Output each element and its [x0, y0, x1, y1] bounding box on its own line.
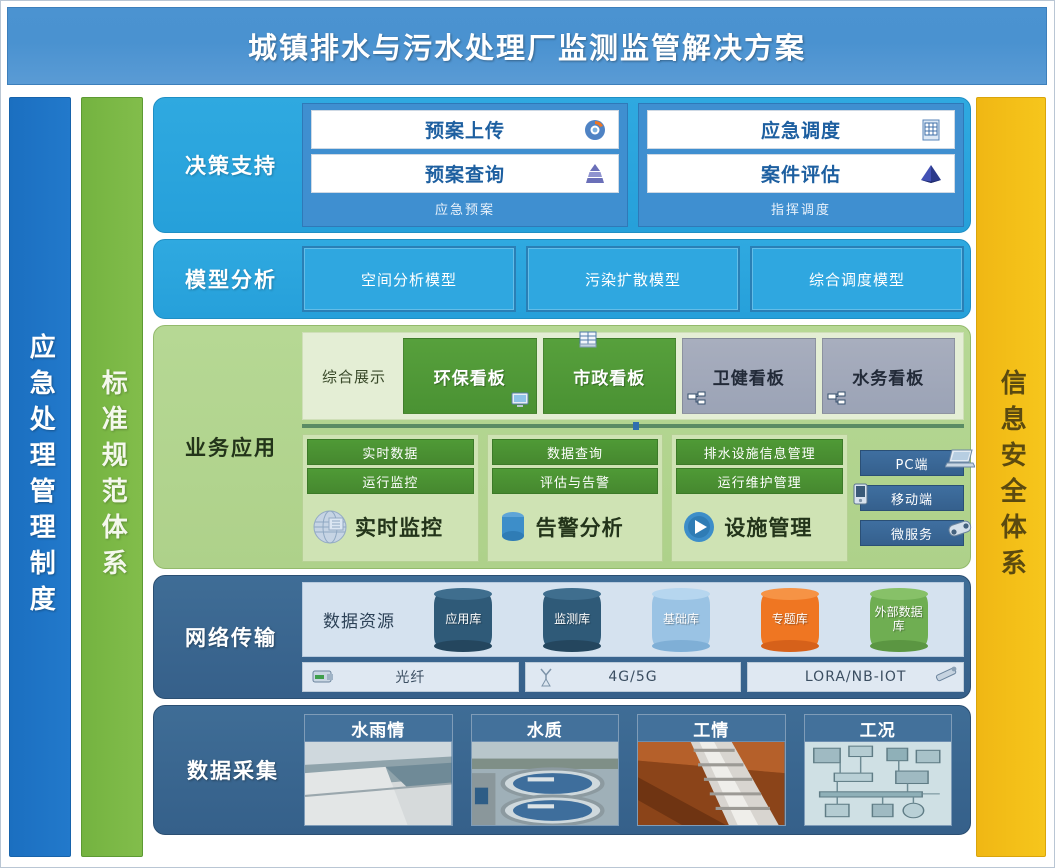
kanban-municipal[interactable]: 市政看板	[543, 338, 677, 414]
divider-marker	[633, 422, 639, 430]
database-application-label: 应用库	[445, 613, 481, 626]
collection-card-working-condition-title: 工况	[805, 715, 952, 742]
grid-table-icon	[918, 117, 944, 143]
pillar-information-security: 信息安全体系	[976, 97, 1046, 857]
chart-node-icon	[827, 391, 847, 409]
layer-network-transmission: 网络传输 数据资源 应用库 监测库	[153, 575, 971, 699]
pillar-emergency-management-label: 应急处理管理制度	[26, 333, 55, 621]
database-thematic[interactable]: 专题库	[761, 593, 819, 647]
pillar-standards-system-label: 标准规范体系	[98, 369, 127, 585]
database-thematic-label: 专题库	[772, 613, 808, 626]
model-item-pollution-diffusion[interactable]: 污染扩散模型	[526, 246, 740, 312]
decision-group-emergency-plan-caption: 应急预案	[311, 199, 619, 218]
solution-architecture-diagram: 城镇排水与污水处理厂监测监管解决方案 应急处理管理制度 标准规范体系 信息安全体…	[0, 0, 1055, 868]
globe-icon	[311, 508, 349, 546]
collection-card-water-rain-title: 水雨情	[305, 715, 452, 742]
network-link-fiber-label: 光纤	[395, 667, 425, 687]
business-column-query: 数据查询 评估与告警 告警分析	[487, 434, 664, 562]
scada-diagram-photo	[805, 742, 952, 825]
kanban-environment[interactable]: 环保看板	[403, 338, 537, 414]
business-footer-alarm-analysis[interactable]: 告警分析	[492, 497, 659, 557]
data-resource-panel: 数据资源 应用库 监测库 基础库	[302, 582, 964, 657]
business-column-facility: 排水设施信息管理 运行维护管理 设施管理	[671, 434, 848, 562]
button-case-evaluation[interactable]: 案件评估	[647, 154, 955, 193]
river-channel-photo	[305, 742, 452, 825]
pillar-information-security-label: 信息安全体系	[997, 369, 1026, 585]
button-plan-query[interactable]: 预案查询	[311, 154, 619, 193]
network-link-lora-label: LORA/NB-IOT	[805, 669, 907, 685]
business-item-assessment-alarm[interactable]: 评估与告警	[492, 468, 659, 494]
decision-group-command-dispatch-caption: 指挥调度	[647, 199, 955, 218]
kanban-water-affairs[interactable]: 水务看板	[822, 338, 956, 414]
cycle-icon	[582, 117, 608, 143]
terminal-pc-label: PC端	[896, 454, 929, 473]
network-links: 光纤 4G/5G LORA/NB-IOT	[302, 662, 964, 692]
layer-decision-support: 决策支持 预案上传	[153, 97, 971, 233]
collection-card-working-condition[interactable]: 工况	[804, 714, 953, 826]
collection-card-project-status[interactable]: 工情	[637, 714, 786, 826]
window-grid-icon	[578, 331, 598, 349]
pyramid-3d-icon	[918, 161, 944, 187]
database-application[interactable]: 应用库	[434, 593, 492, 647]
collection-card-water-rain[interactable]: 水雨情	[304, 714, 453, 826]
fiber-icon	[309, 667, 337, 687]
business-footer-facility-management[interactable]: 设施管理	[676, 497, 843, 557]
button-case-evaluation-label: 案件评估	[761, 160, 841, 187]
architecture-layers: 决策支持 预案上传	[153, 97, 971, 859]
data-resource-label: 数据资源	[313, 607, 405, 632]
layer-decision-support-label: 决策支持	[160, 150, 302, 180]
business-divider	[302, 424, 964, 428]
database-external-label: 外部数据库	[870, 606, 928, 632]
buried-pipe-photo	[638, 742, 785, 825]
layer-data-collection: 数据采集 水雨情	[153, 705, 971, 835]
decision-group-command-dispatch: 应急调度 案件评估	[638, 103, 964, 227]
pillar-standards-system: 标准规范体系	[81, 97, 143, 857]
database-icon	[496, 508, 530, 546]
database-monitoring[interactable]: 监测库	[543, 593, 601, 647]
layer-model-analysis-label: 模型分析	[160, 264, 302, 294]
terminal-microservice[interactable]: 微服务	[860, 520, 964, 546]
business-footer-realtime-monitoring-label: 实时监控	[355, 512, 443, 542]
button-emergency-dispatch-label: 应急调度	[761, 116, 841, 143]
mobile-icon	[849, 483, 875, 503]
network-link-fiber[interactable]: 光纤	[302, 662, 519, 692]
business-column-monitoring: 实时数据 运行监控	[302, 434, 479, 562]
showcase-label: 综合展示	[311, 366, 397, 387]
network-link-4g5g[interactable]: 4G/5G	[525, 662, 742, 692]
sensor-icon	[933, 664, 961, 684]
database-external[interactable]: 外部数据库	[870, 593, 928, 647]
antenna-icon	[532, 667, 560, 687]
pyramid-layers-icon	[582, 161, 608, 187]
business-footer-realtime-monitoring[interactable]: 实时监控	[307, 497, 474, 557]
business-item-realtime-data[interactable]: 实时数据	[307, 439, 474, 465]
kanban-environment-label: 环保看板	[434, 364, 506, 389]
collection-card-water-quality[interactable]: 水质	[471, 714, 620, 826]
layer-business-application: 业务应用 综合展示 环保看板	[153, 325, 971, 569]
kanban-health-label: 卫健看板	[713, 364, 785, 389]
network-link-4g5g-label: 4G/5G	[608, 669, 657, 685]
terminal-mobile[interactable]: 移动端	[860, 485, 964, 511]
button-plan-upload-label: 预案上传	[425, 116, 505, 143]
model-item-integrated-dispatch[interactable]: 综合调度模型	[750, 246, 964, 312]
page-title: 城镇排水与污水处理厂监测监管解决方案	[248, 25, 806, 67]
kanban-health[interactable]: 卫健看板	[682, 338, 816, 414]
button-plan-upload[interactable]: 预案上传	[311, 110, 619, 149]
showcase-row: 综合展示 环保看板 市政看板	[302, 332, 964, 420]
layer-data-collection-label: 数据采集	[162, 714, 304, 826]
monitor-icon	[510, 391, 530, 409]
business-footer-alarm-analysis-label: 告警分析	[536, 512, 624, 542]
business-item-data-query[interactable]: 数据查询	[492, 439, 659, 465]
terminal-microservice-label: 微服务	[891, 524, 933, 543]
business-item-operation-maintenance[interactable]: 运行维护管理	[676, 468, 843, 494]
network-link-lora[interactable]: LORA/NB-IOT	[747, 662, 964, 692]
layer-model-analysis: 模型分析 空间分析模型 污染扩散模型 综合调度模型	[153, 239, 971, 319]
kanban-municipal-label: 市政看板	[573, 364, 645, 389]
terminal-mobile-label: 移动端	[891, 489, 933, 508]
database-monitoring-label: 监测库	[554, 613, 590, 626]
layer-network-transmission-label: 网络传输	[160, 582, 302, 692]
pillar-emergency-management: 应急处理管理制度	[9, 97, 71, 857]
laptop-icon	[945, 448, 971, 468]
terminal-pc[interactable]: PC端	[860, 450, 964, 476]
client-terminals: PC端 移动端	[856, 434, 964, 562]
layer-business-application-label: 业务应用	[160, 332, 302, 562]
phone-icon	[945, 518, 971, 538]
business-item-drainage-facility-info[interactable]: 排水设施信息管理	[676, 439, 843, 465]
database-basic[interactable]: 基础库	[652, 593, 710, 647]
play-icon	[680, 508, 718, 546]
model-item-spatial[interactable]: 空间分析模型	[302, 246, 516, 312]
button-emergency-dispatch[interactable]: 应急调度	[647, 110, 955, 149]
business-footer-facility-management-label: 设施管理	[724, 512, 812, 542]
decision-group-emergency-plan: 预案上传 预案查询	[302, 103, 628, 227]
button-plan-query-label: 预案查询	[425, 160, 505, 187]
collection-card-project-status-title: 工情	[638, 715, 785, 742]
kanban-water-affairs-label: 水务看板	[852, 364, 924, 389]
business-item-operation-monitoring[interactable]: 运行监控	[307, 468, 474, 494]
sedimentation-tank-photo	[472, 742, 619, 825]
page-header: 城镇排水与污水处理厂监测监管解决方案	[7, 7, 1047, 85]
collection-card-water-quality-title: 水质	[472, 715, 619, 742]
chart-node-icon	[687, 391, 707, 409]
database-basic-label: 基础库	[663, 613, 699, 626]
